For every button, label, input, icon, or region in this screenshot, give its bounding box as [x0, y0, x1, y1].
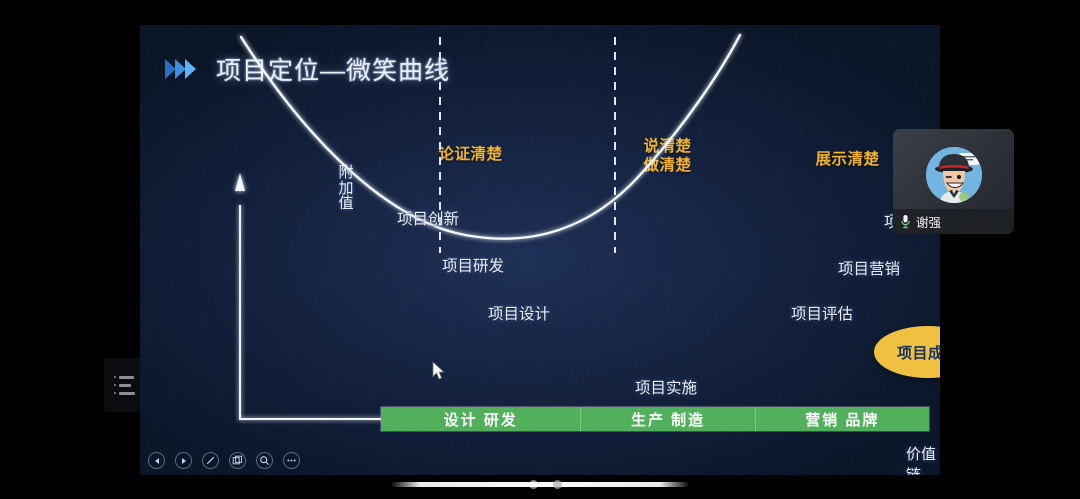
play-slide-button[interactable]	[175, 452, 192, 469]
value-chain-segment: 生产 制造	[580, 407, 754, 431]
pen-icon	[205, 455, 216, 466]
stage-divider-lines	[440, 37, 615, 253]
y-axis-label-char: 加	[336, 181, 356, 197]
list-menu-icon	[114, 376, 138, 395]
home-indicator-dot	[529, 480, 538, 489]
search-icon	[259, 455, 270, 466]
mouse-cursor	[432, 361, 445, 385]
annotate-pen-button[interactable]	[202, 452, 219, 469]
home-indicator-bar[interactable]	[390, 482, 690, 487]
participant-name: 谢强	[916, 212, 941, 231]
outcome-badge-label: 项目成果	[897, 342, 940, 363]
pages-icon	[232, 455, 243, 466]
curve-label-design: 项目设计	[488, 302, 550, 324]
smile-curve-line	[241, 35, 740, 239]
curve-label-evaluation: 项目评估	[791, 302, 853, 324]
more-options-button[interactable]	[283, 452, 300, 469]
value-chain-bar: 设计 研发 生产 制造 营销 品牌	[380, 406, 930, 432]
value-chain-segment: 营销 品牌	[755, 407, 929, 431]
cartoon-avatar-icon	[926, 147, 982, 203]
y-axis-label-char: 值	[336, 196, 356, 212]
participant-name-strip: 谢强	[893, 209, 1014, 234]
more-dots-icon	[286, 455, 297, 466]
play-arrow-icon	[180, 457, 188, 465]
microphone-icon[interactable]	[900, 214, 911, 229]
meeting-screen-share-viewport: 项目定位—微笑曲线 论证清楚 说清楚 做清楚 展示清楚	[0, 0, 1080, 499]
y-axis	[235, 173, 245, 420]
slide-pages-button[interactable]	[229, 452, 246, 469]
curve-label-research: 项目研发	[442, 254, 504, 276]
home-indicator-dot	[553, 480, 562, 489]
curve-label-marketing: 项目营销	[838, 257, 900, 279]
curve-label-implementation: 项目实施	[635, 376, 697, 398]
value-chain-segment: 设计 研发	[381, 407, 580, 431]
left-arrow-icon	[153, 457, 161, 465]
y-axis-label-char: 附	[336, 165, 356, 181]
avatar	[926, 147, 982, 203]
y-axis-label: 附 加 值	[336, 165, 356, 212]
previous-slide-button[interactable]	[148, 452, 165, 469]
presentation-slide[interactable]: 项目定位—微笑曲线 论证清楚 说清楚 做清楚 展示清楚	[140, 25, 940, 475]
participant-video-tile[interactable]: 谢强	[893, 129, 1014, 234]
curve-label-innovation: 项目创新	[397, 207, 459, 229]
x-axis-label: 价值链	[906, 443, 940, 475]
slide-toolbar[interactable]	[148, 452, 300, 469]
zoom-search-button[interactable]	[256, 452, 273, 469]
